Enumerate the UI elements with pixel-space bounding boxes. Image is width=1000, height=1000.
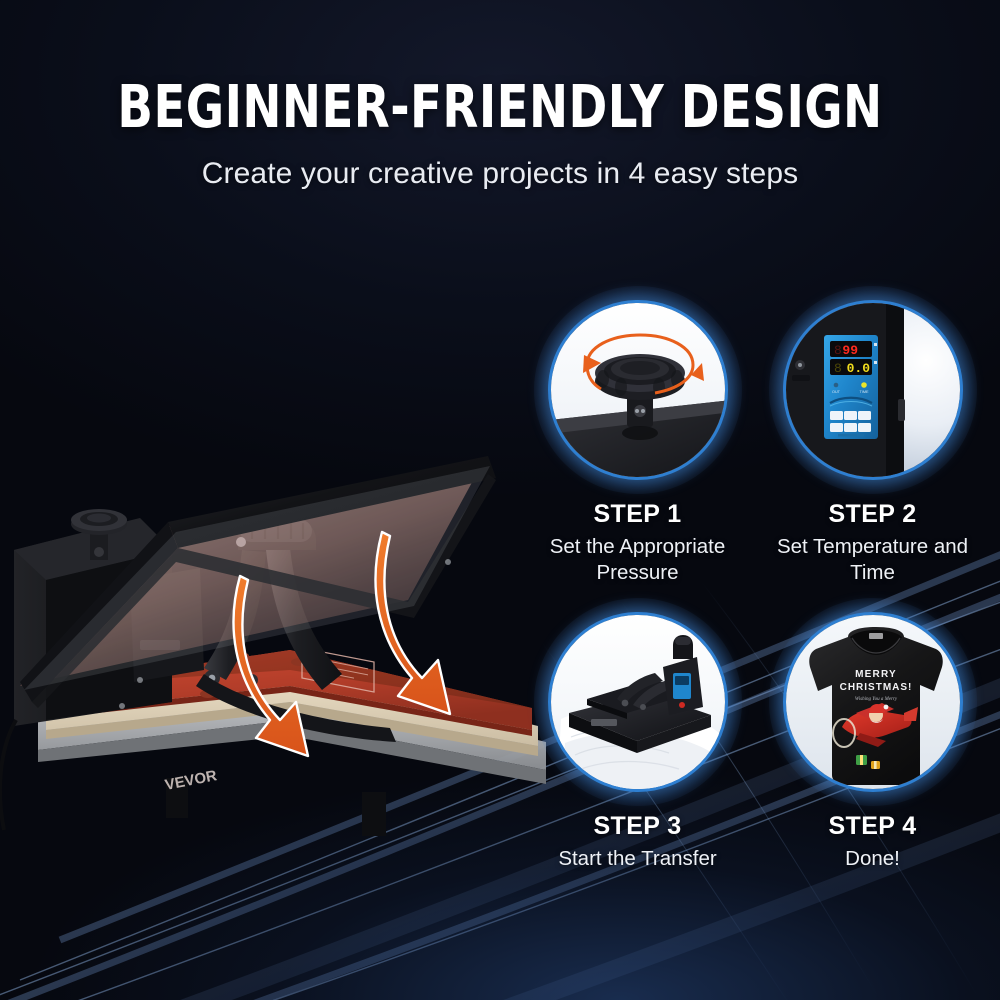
svg-text:8: 8 (834, 361, 842, 376)
step-item-3[interactable]: STEP 3 Start the Transfer (520, 612, 755, 872)
page-subtitle: Create your creative projects in 4 easy … (0, 157, 1000, 191)
time-display: 0.0 (846, 361, 870, 376)
steps-grid: STEP 1 Set the Appropriate Pressure (520, 300, 990, 880)
brand-label: VEVOR (164, 767, 219, 794)
step-item-1[interactable]: STEP 1 Set the Appropriate Pressure (520, 300, 755, 585)
page-title: BEGINNER-FRIENDLY DESIGN (60, 72, 940, 141)
power-cord (0, 720, 16, 830)
step-2-image: 99 8 0.0 8 OUT TIME (783, 300, 963, 480)
step-3-title: STEP 3 (520, 812, 755, 841)
shirt-print-line3: Wishing You a Merry (854, 697, 897, 702)
step-item-4[interactable]: MERRY CHRISTMAS! Wishing You a Merry (755, 612, 990, 872)
step-3-desc: Start the Transfer (520, 846, 755, 872)
heat-press-product-illustration: VEVOR (0, 250, 550, 890)
indicator-out-label: OUT (831, 390, 840, 394)
svg-text:8: 8 (834, 343, 842, 358)
step-item-2[interactable]: 99 8 0.0 8 OUT TIME (755, 300, 990, 585)
temperature-display: 99 (842, 343, 858, 358)
step-3-image (548, 612, 728, 792)
header: BEGINNER-FRIENDLY DESIGN Create your cre… (0, 72, 1000, 191)
step-1-image (548, 300, 728, 480)
shirt-print-line2: CHRISTMAS! (839, 682, 912, 693)
step-2-title: STEP 2 (755, 500, 990, 529)
step-2-desc: Set Temperature and Time (755, 534, 990, 585)
infographic-canvas: BEGINNER-FRIENDLY DESIGN Create your cre… (0, 0, 1000, 1000)
shirt-print-line1: MERRY (855, 669, 897, 680)
step-4-title: STEP 4 (755, 812, 990, 841)
indicator-time-label: TIME (859, 390, 869, 394)
step-4-image: MERRY CHRISTMAS! Wishing You a Merry (783, 612, 963, 792)
step-1-desc: Set the Appropriate Pressure (520, 534, 755, 585)
step-1-title: STEP 1 (520, 500, 755, 529)
step-4-desc: Done! (755, 846, 990, 872)
